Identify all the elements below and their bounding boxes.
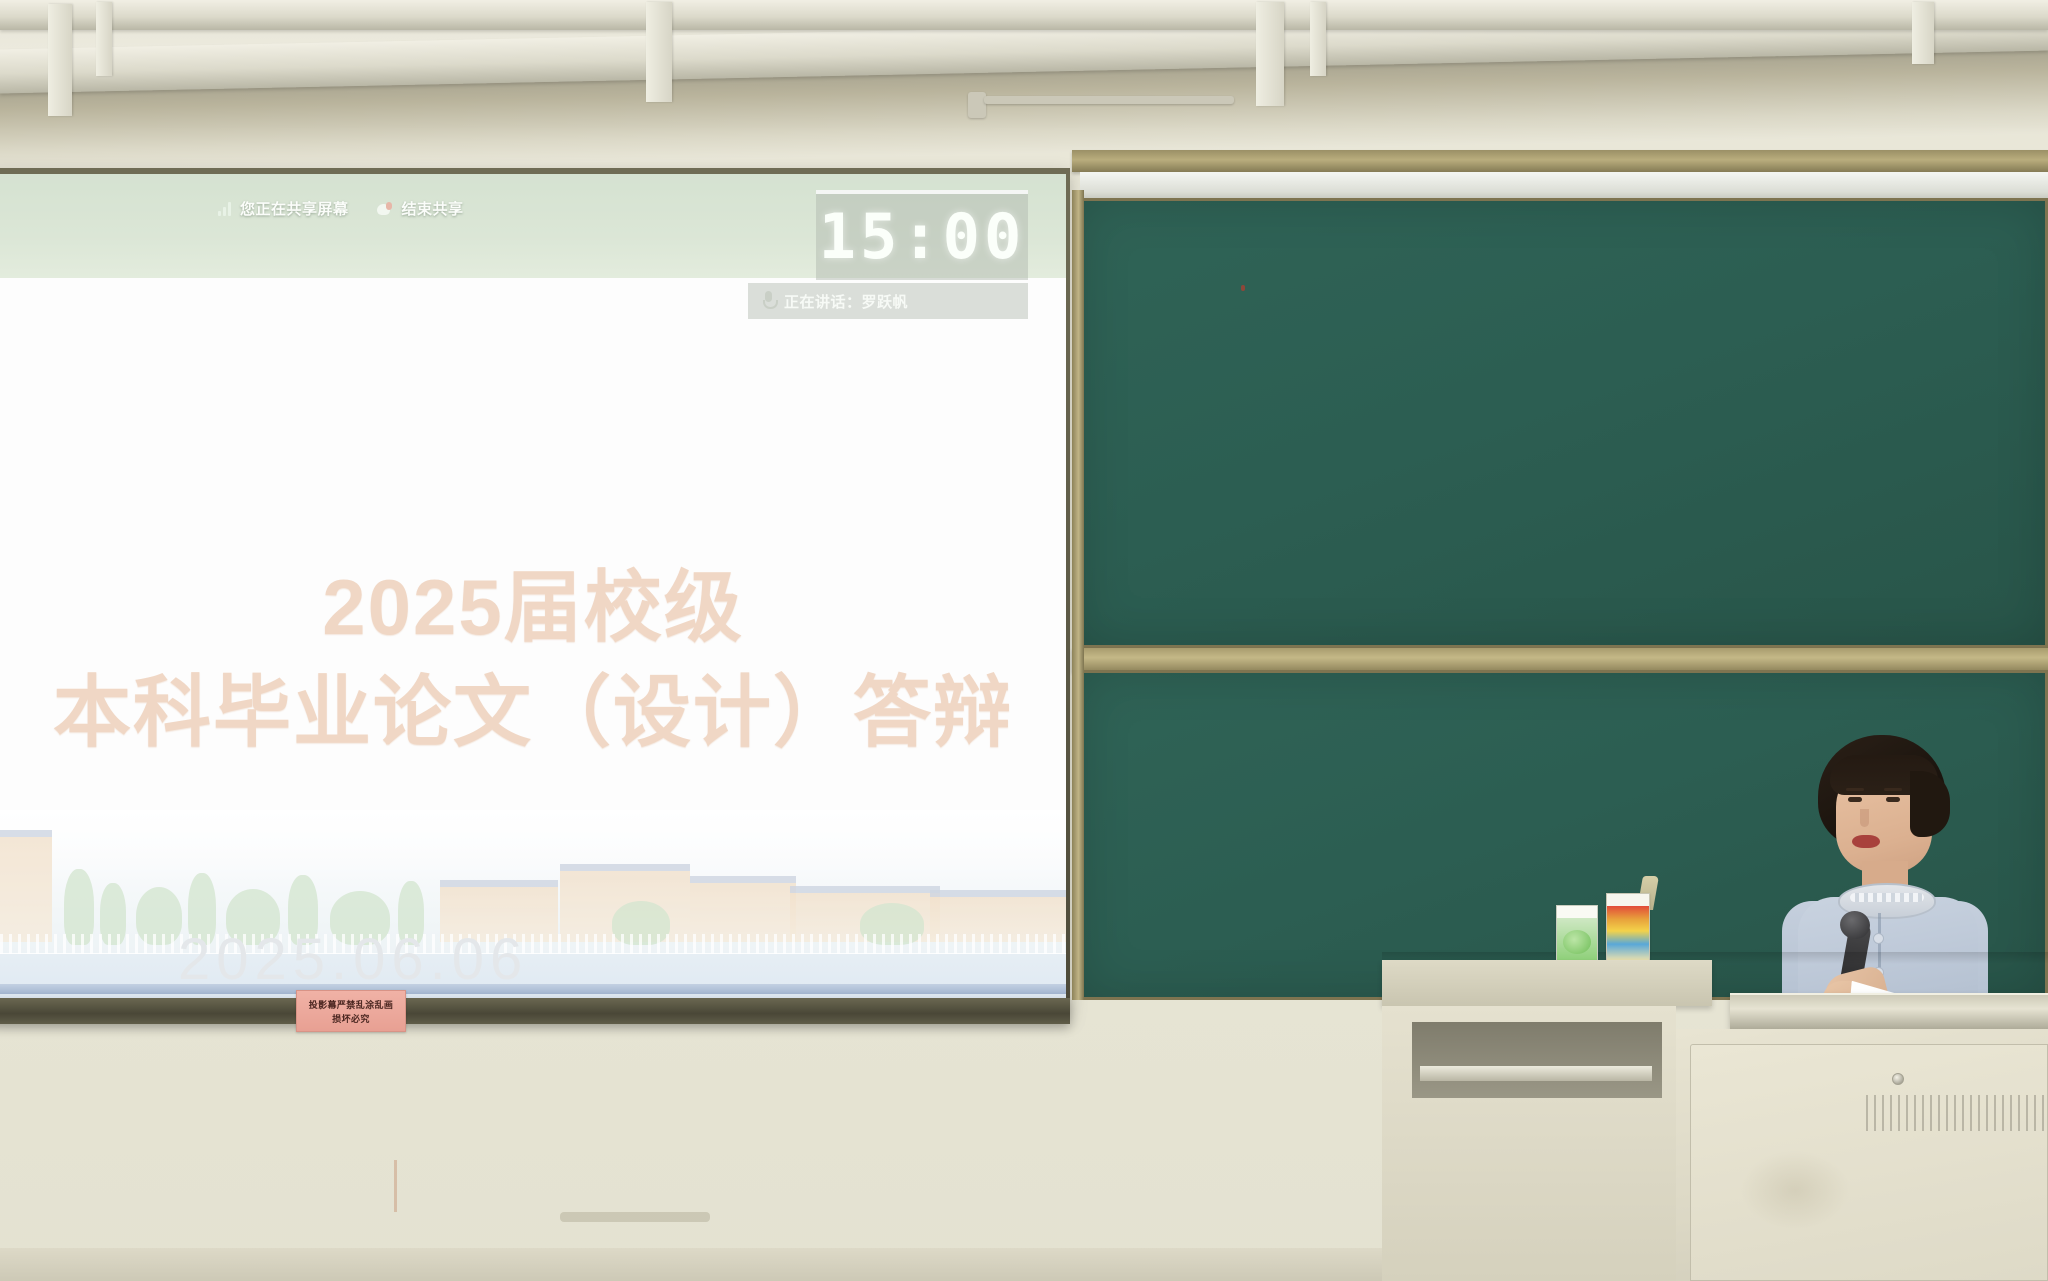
side-desk-drawer-slide[interactable]: [1420, 1066, 1652, 1081]
podium-vent-slots: [1866, 1095, 2048, 1131]
presenter-nose: [1860, 809, 1869, 827]
ceiling-hanger-4: [1256, 2, 1284, 106]
screen-bottom-rail: [0, 998, 1070, 1024]
presenter: [1760, 735, 2000, 1035]
photo-waterline: [0, 984, 1066, 994]
stop-share-label: 结束共享: [402, 198, 464, 219]
chalk-box-green: [1556, 905, 1598, 961]
projector-warning-sign: 投影幕严禁乱涂乱画 损坏必究: [296, 990, 406, 1032]
side-desk-drawer-recess: [1412, 1022, 1662, 1098]
ceiling-hanger-5: [1310, 2, 1326, 76]
presenter-eye-left: [1848, 797, 1862, 802]
wall-scuff-2: [394, 1160, 397, 1212]
presenter-mouth: [1852, 835, 1880, 848]
active-speaker-label: 正在讲话：罗跃帆: [784, 291, 908, 312]
chalkboard-lamp: [1080, 172, 2048, 200]
ceiling-hanger-2: [96, 2, 112, 76]
ceiling-hanger-3: [646, 2, 672, 102]
countdown-timer-value: 15:00: [819, 206, 1026, 268]
lower-wall-strip: [0, 1248, 1382, 1281]
ceiling-pipe: [984, 96, 1234, 104]
microphone-icon: [762, 291, 775, 311]
wall-scuff-1: [560, 1212, 710, 1222]
ceiling-beam-front: [0, 0, 2048, 30]
podium-lock-icon[interactable]: [1892, 1073, 1904, 1085]
presenter-eye-right: [1886, 797, 1900, 802]
photo-building-left: [0, 830, 52, 942]
stop-share-button[interactable]: 结束共享: [375, 198, 464, 219]
hand-cursor-icon: [375, 201, 393, 217]
warning-line-2: 损坏必究: [332, 1012, 370, 1025]
screen-share-toolbar[interactable]: 您正在共享屏幕 结束共享: [218, 198, 464, 219]
ceiling-light-fixture: [968, 92, 986, 118]
ceiling-hanger-6: [1912, 2, 1934, 64]
slide-date: 2025.06.06: [178, 926, 528, 993]
photo-sky: [0, 810, 1066, 880]
sharing-status-group: 您正在共享屏幕: [218, 198, 349, 219]
slide-title-line1: 2025届校级: [0, 564, 1066, 651]
photo-building-3: [690, 876, 796, 942]
ceiling-hanger-1: [48, 4, 72, 116]
lecture-hall-scene: 2025届校级 本科毕业论文（设计）答辩 2025.06.06 您正在共享屏幕 …: [0, 0, 2048, 1281]
side-desk-top: [1382, 960, 1712, 1006]
countdown-timer-panel: 15:00: [816, 190, 1028, 280]
presenter-brow-left: [1846, 788, 1864, 791]
podium-top-rail: [1730, 993, 2048, 1029]
chalkboard-upper-panel: [1078, 198, 2048, 648]
chalk-box-colored: [1606, 893, 1650, 961]
chalkboard-red-mark: [1241, 285, 1245, 291]
podium-smudge: [1740, 1150, 1850, 1230]
presenter-button-1: [1873, 933, 1884, 944]
chalkboard-left-post: [1072, 190, 1084, 1000]
signal-bars-icon: [218, 201, 231, 216]
sharing-status-label: 您正在共享屏幕: [240, 198, 349, 219]
slide-campus-photo: [0, 810, 1066, 1000]
chalkboard-middle-rail: [1072, 648, 2048, 672]
chalkboard-top-rail: [1072, 150, 2048, 172]
slide-title-line2: 本科毕业论文（设计）答辩: [0, 669, 1066, 756]
active-speaker-strip: 正在讲话：罗跃帆: [748, 283, 1028, 319]
presenter-brow-right: [1884, 788, 1902, 791]
warning-line-1: 投影幕严禁乱涂乱画: [309, 998, 394, 1011]
